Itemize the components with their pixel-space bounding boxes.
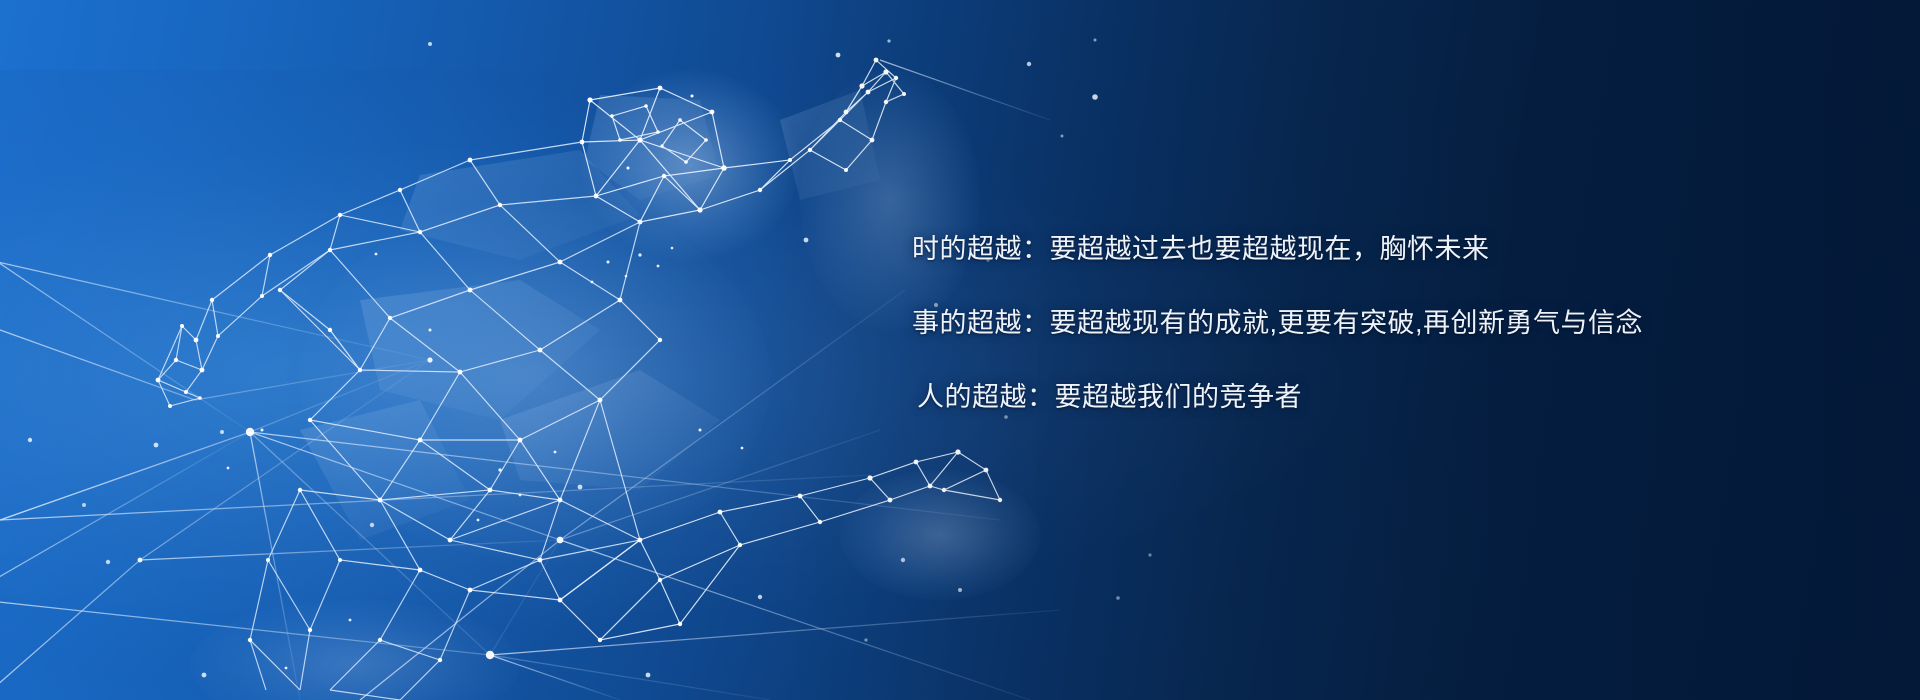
tagline-matter: 事的超越：要超越现有的成就,更要有突破,再创新勇气与信念 (912, 310, 1652, 337)
tagline-people: 人的超越：要超越我们的竞争者 (917, 384, 1652, 411)
banner-root: 时的超越：要超越过去也要超越现在，胸怀未来 事的超越：要超越现有的成就,更要有突… (0, 0, 1920, 700)
tagline-time: 时的超越：要超越过去也要超越现在，胸怀未来 (912, 236, 1652, 263)
tagline-list: 时的超越：要超越过去也要超越现在，胸怀未来 事的超越：要超越现有的成就,更要有突… (912, 236, 1652, 411)
